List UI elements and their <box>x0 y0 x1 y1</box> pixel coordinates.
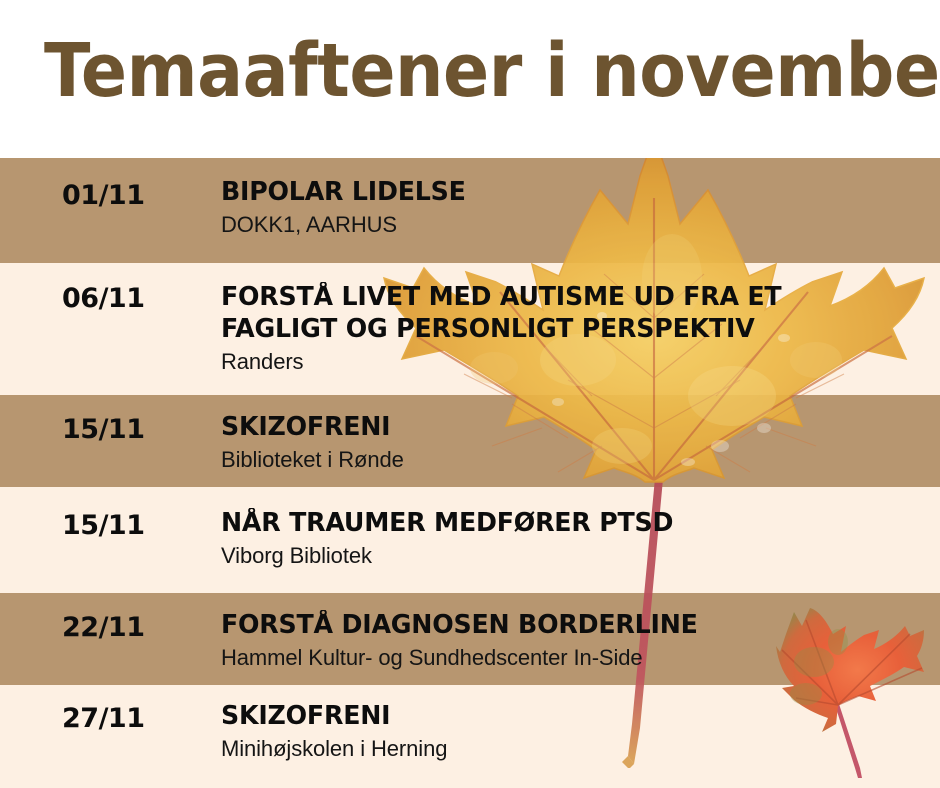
event-title-line: BIPOLAR LIDELSE <box>221 176 914 208</box>
poster-canvas: Temaaftener i november 01/11BIPOLAR LIDE… <box>0 0 940 788</box>
event-date: 15/11 <box>62 414 212 446</box>
event-date: 27/11 <box>62 703 212 735</box>
event-title-line: SKIZOFRENI <box>221 411 914 443</box>
event-title-line: NÅR TRAUMER MEDFØRER PTSD <box>221 507 914 539</box>
event-venue: Hammel Kultur- og Sundhedscenter In-Side <box>221 641 921 672</box>
event-venue: Biblioteket i Rønde <box>221 443 921 474</box>
event-title-line: FORSTÅ LIVET MED AUTISME UD FRA ET <box>221 281 914 313</box>
event-details: NÅR TRAUMER MEDFØRER PTSDViborg Bibliote… <box>221 507 921 570</box>
event-title-line: SKIZOFRENI <box>221 700 914 732</box>
event-venue: Randers <box>221 345 921 376</box>
event-venue: Minihøjskolen i Herning <box>221 732 921 763</box>
event-title-line: FAGLIGT OG PERSONLIGT PERSPEKTIV <box>221 313 914 345</box>
event-venue: DOKK1, AARHUS <box>221 208 921 239</box>
event-details: SKIZOFRENIBiblioteket i Rønde <box>221 411 921 474</box>
event-details: SKIZOFRENIMinihøjskolen i Herning <box>221 700 921 763</box>
event-venue: Viborg Bibliotek <box>221 539 921 570</box>
event-details: FORSTÅ LIVET MED AUTISME UD FRA ETFAGLIG… <box>221 281 921 376</box>
event-details: FORSTÅ DIAGNOSEN BORDERLINEHammel Kultur… <box>221 609 921 672</box>
event-date: 06/11 <box>62 283 212 315</box>
event-date: 01/11 <box>62 180 212 212</box>
event-date: 22/11 <box>62 612 212 644</box>
event-title-line: FORSTÅ DIAGNOSEN BORDERLINE <box>221 609 914 641</box>
event-list: 01/11BIPOLAR LIDELSEDOKK1, AARHUS06/11FO… <box>0 0 940 788</box>
event-date: 15/11 <box>62 510 212 542</box>
event-details: BIPOLAR LIDELSEDOKK1, AARHUS <box>221 176 921 239</box>
